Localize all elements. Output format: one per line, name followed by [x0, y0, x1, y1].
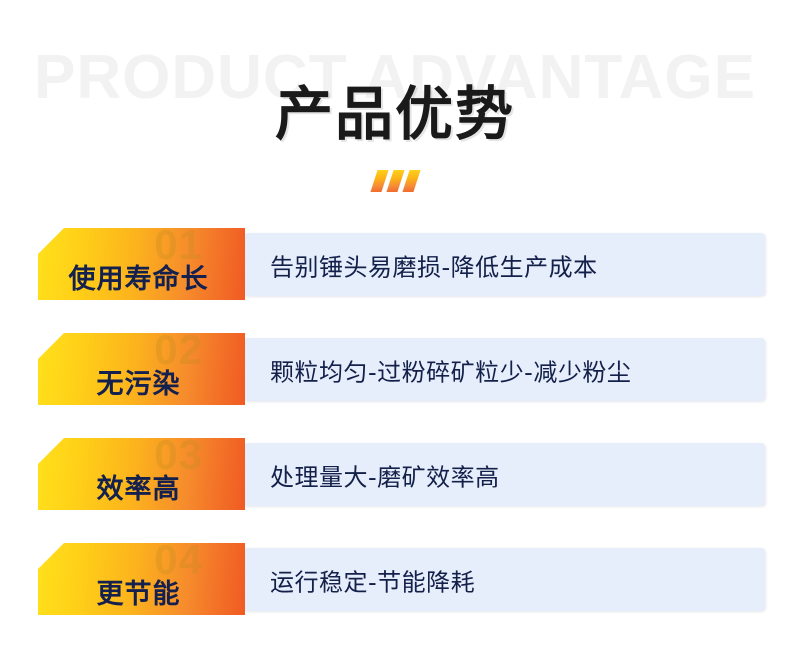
advantage-index-number: 04	[154, 543, 203, 581]
advantage-badge: 01 使用寿命长	[38, 228, 245, 300]
advantage-label: 更节能	[38, 581, 239, 608]
advantage-list: 告别锤头易磨损-降低生产成本 01 使用寿命长 颗粒均匀-过粉碎矿粒少-减少粉尘…	[0, 228, 790, 648]
list-item: 处理量大-磨矿效率高 03 效率高	[0, 438, 790, 510]
page-header: PRODUCT ADVANTAGE 产品优势	[0, 0, 790, 215]
list-item: 告别锤头易磨损-降低生产成本 01 使用寿命长	[0, 228, 790, 300]
advantage-label: 效率高	[38, 476, 239, 503]
advantage-label: 使用寿命长	[38, 266, 239, 293]
advantage-description-panel: 告别锤头易磨损-降低生产成本	[245, 233, 765, 296]
advantage-description-panel: 运行稳定-节能降耗	[245, 548, 765, 611]
advantage-description: 告别锤头易磨损-降低生产成本	[270, 247, 598, 282]
title-accent-bars	[0, 170, 790, 192]
accent-bar-icon	[402, 170, 420, 192]
advantage-description: 处理量大-磨矿效率高	[270, 457, 500, 492]
accent-bar-icon	[370, 170, 388, 192]
advantage-description: 运行稳定-节能降耗	[270, 562, 475, 597]
advantage-badge: 04 更节能	[38, 543, 245, 615]
advantage-description-panel: 处理量大-磨矿效率高	[245, 443, 765, 506]
list-item: 运行稳定-节能降耗 04 更节能	[0, 543, 790, 615]
advantage-index-number: 03	[154, 438, 203, 476]
page-title: 产品优势	[0, 85, 790, 143]
advantage-badge: 02 无污染	[38, 333, 245, 405]
advantage-description-panel: 颗粒均匀-过粉碎矿粒少-减少粉尘	[245, 338, 765, 401]
advantage-index-number: 01	[154, 228, 203, 266]
advantage-index-number: 02	[154, 333, 203, 371]
list-item: 颗粒均匀-过粉碎矿粒少-减少粉尘 02 无污染	[0, 333, 790, 405]
advantage-badge: 03 效率高	[38, 438, 245, 510]
accent-bar-icon	[386, 170, 404, 192]
advantage-description: 颗粒均匀-过粉碎矿粒少-减少粉尘	[270, 352, 631, 387]
advantage-label: 无污染	[38, 371, 239, 398]
